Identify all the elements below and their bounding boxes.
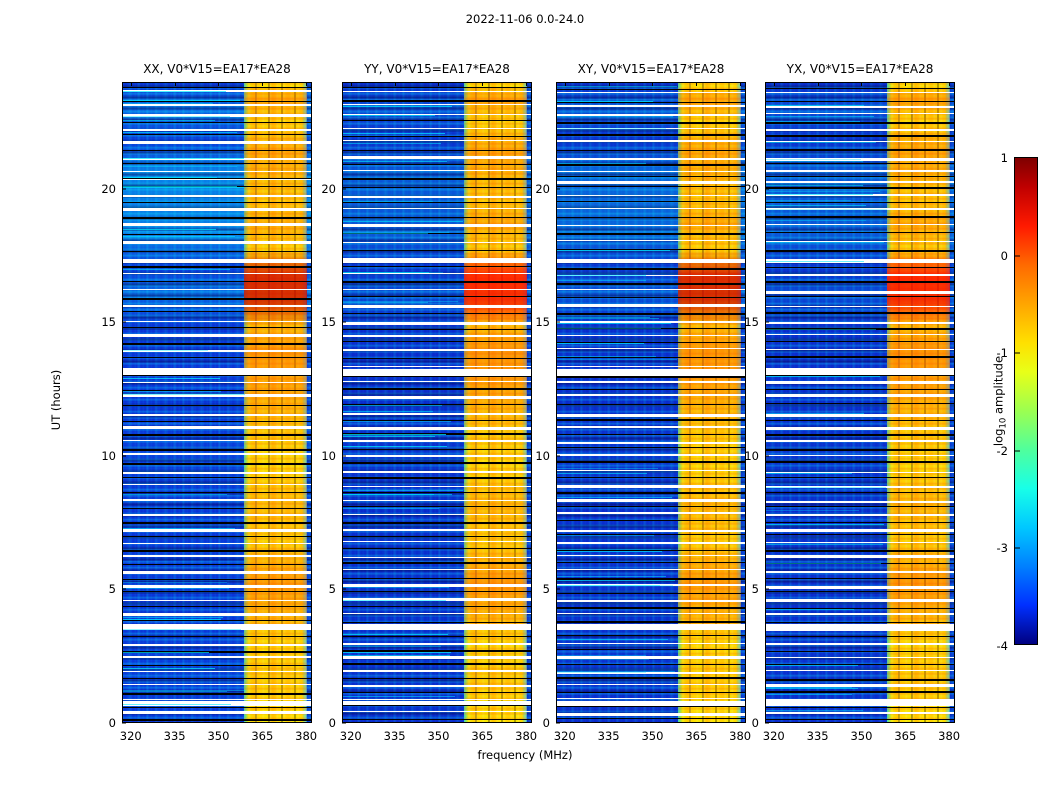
flag-stripe-black — [557, 607, 745, 609]
y-tick-mark — [342, 322, 346, 323]
bright-transient-row — [343, 652, 451, 653]
bright-transient-row — [343, 446, 447, 447]
flag-stripe-black — [343, 462, 531, 464]
flag-stripe-black — [766, 202, 954, 203]
flag-stripe-white — [766, 571, 954, 573]
flag-stripe-black — [123, 522, 311, 524]
flag-stripe-white — [343, 529, 531, 531]
flag-stripe-white — [766, 455, 954, 456]
bright-transient-row — [766, 194, 873, 195]
y-tick-label: 0 — [329, 716, 342, 730]
y-tick-label: 20 — [101, 182, 122, 196]
x-tick-label: 320 — [554, 729, 576, 743]
bright-transient-row — [557, 280, 646, 281]
flag-stripe-black — [123, 636, 311, 637]
flag-stripe-white — [343, 711, 531, 712]
flag-stripe-white — [557, 555, 745, 556]
flag-stripe-black — [123, 311, 311, 312]
bright-transient-row — [123, 116, 230, 117]
flag-stripe-black — [343, 506, 531, 507]
flag-stripe-black — [557, 376, 745, 378]
flag-stripe-white — [343, 349, 531, 351]
flag-stripe-black — [123, 343, 311, 345]
flag-stripe-white — [766, 657, 954, 658]
x-tick-mark — [218, 82, 219, 86]
flag-stripe-white — [557, 366, 745, 367]
x-tick-label: 350 — [850, 729, 872, 743]
flag-stripe-white — [557, 454, 745, 456]
flag-stripe-white — [343, 208, 531, 209]
flag-stripe-black — [343, 250, 531, 251]
flag-stripe-black — [343, 202, 531, 203]
flag-stripe-white — [557, 335, 745, 336]
bright-transient-row — [123, 269, 230, 270]
flag-stripe-white — [766, 129, 954, 131]
flag-stripe-black — [766, 389, 954, 390]
bright-transient-row — [766, 116, 874, 117]
panel-yx[interactable]: YX, V0*V15=EA17*EA28 05101520 3203353503… — [765, 82, 955, 723]
heatmap-yx[interactable] — [765, 82, 955, 723]
flag-stripe-white — [557, 195, 745, 196]
bright-transient-row — [343, 233, 428, 234]
flag-stripe-white — [557, 442, 745, 444]
bright-transient-row — [123, 652, 209, 653]
flag-stripe-white — [343, 396, 531, 399]
flag-stripe-black — [123, 719, 311, 721]
bright-transient-row — [123, 187, 244, 188]
flag-stripe-black — [123, 492, 311, 493]
y-axis-label: UT (hours) — [49, 370, 63, 430]
flag-stripe-white — [123, 499, 311, 501]
flag-stripe-wide-white — [766, 701, 954, 706]
x-tick-label: 365 — [471, 729, 493, 743]
flag-stripe-black — [343, 719, 531, 720]
bright-transient-row — [557, 250, 670, 251]
bright-transient-row — [557, 317, 650, 318]
colorbar-tick-mark — [1015, 255, 1020, 256]
bright-transient-row — [557, 323, 671, 324]
flag-stripe-black — [557, 593, 745, 594]
x-tick-label: 320 — [763, 729, 785, 743]
bright-transient-row — [123, 120, 215, 121]
y-tick-label: 10 — [321, 449, 342, 463]
bright-transient-row — [343, 133, 445, 134]
flag-stripe-black — [557, 217, 745, 218]
flag-stripe-white — [343, 128, 531, 129]
bright-transient-row — [343, 587, 449, 588]
heatmap-yy[interactable] — [342, 82, 532, 723]
flag-stripe-black — [766, 719, 954, 720]
flag-stripe-white — [123, 711, 311, 714]
x-tick-mark — [131, 82, 132, 86]
flag-stripe-black — [557, 562, 745, 563]
flag-stripe-black — [557, 134, 745, 136]
bright-transient-row — [766, 142, 876, 143]
bright-transient-row — [343, 600, 446, 601]
flag-stripe-black — [123, 449, 311, 451]
bright-transient-row — [343, 106, 452, 107]
flag-stripe-black — [343, 548, 531, 549]
flag-stripe-black — [343, 136, 531, 137]
colorbar-tick-label: -3 — [997, 541, 1015, 555]
flag-stripe-white — [766, 613, 954, 615]
flagged-time-stripes — [766, 83, 954, 722]
flag-stripe-white — [557, 171, 745, 172]
flag-stripe-white — [123, 472, 311, 474]
bright-transient-row — [766, 200, 851, 201]
flag-stripe-white — [123, 382, 311, 383]
flag-stripe-white — [343, 427, 531, 430]
bright-transient-row — [343, 494, 434, 495]
bright-transient-row — [123, 236, 235, 237]
flag-stripe-white — [766, 414, 954, 417]
bright-transient-row — [343, 421, 451, 422]
flag-stripe-black — [123, 234, 311, 235]
y-tick-label: 5 — [109, 582, 122, 596]
flag-stripe-black — [343, 313, 531, 314]
bright-transient-row — [123, 186, 237, 187]
flag-stripe-white — [123, 289, 311, 290]
flag-stripe-white — [766, 514, 954, 516]
x-tick-mark — [395, 82, 396, 86]
flag-stripe-black — [766, 691, 954, 693]
heatmap-xy[interactable] — [556, 82, 746, 723]
flag-stripe-white — [123, 208, 311, 211]
flag-stripe-white — [123, 171, 311, 172]
bright-transient-row — [766, 209, 887, 210]
flag-stripe-black — [343, 358, 531, 359]
flag-stripe-white — [557, 92, 745, 93]
flag-stripe-black — [343, 591, 531, 592]
y-tick-mark — [122, 455, 126, 456]
x-tick-mark — [306, 82, 307, 86]
flag-stripe-black — [343, 606, 531, 607]
bright-transient-row — [123, 588, 229, 589]
bright-transient-row — [123, 132, 237, 133]
x-tick-mark — [351, 82, 352, 86]
flagged-time-stripes — [123, 83, 311, 722]
flag-stripe-black — [343, 150, 531, 151]
colorbar[interactable]: 10-1-2-3-4 — [1014, 157, 1038, 645]
flag-stripe-black — [766, 477, 954, 478]
x-tick-mark — [526, 82, 527, 86]
bright-transient-row — [766, 710, 863, 711]
flag-stripe-white — [766, 529, 954, 532]
bright-transient-row — [766, 242, 884, 243]
flag-stripe-white — [557, 643, 745, 644]
flag-stripe-white — [343, 455, 531, 457]
flag-stripe-black — [343, 522, 531, 524]
flag-stripe-wide-white — [557, 369, 745, 376]
flag-stripe-white — [123, 671, 311, 672]
colorbar-tick-mark — [1015, 353, 1020, 354]
flag-stripe-white — [343, 670, 531, 672]
flag-stripe-black — [123, 298, 311, 300]
flag-stripe-black — [123, 665, 311, 666]
flag-stripe-white — [557, 208, 745, 209]
bright-transient-row — [766, 261, 864, 262]
flag-stripe-white — [557, 225, 745, 226]
bright-transient-row — [343, 302, 428, 303]
bright-transient-row — [123, 617, 223, 618]
heatmap-xx[interactable] — [122, 82, 312, 723]
figure-title: 2022-11-06 0.0-24.0 — [0, 12, 1050, 26]
flag-stripe-white — [123, 179, 311, 180]
flag-stripe-black — [123, 421, 311, 422]
flag-stripe-white — [343, 699, 531, 700]
bright-transient-row — [557, 535, 654, 536]
flag-stripe-black — [343, 636, 531, 637]
flag-stripe-white — [766, 349, 954, 350]
flag-stripe-black — [766, 636, 954, 637]
x-tick-label: 350 — [427, 729, 449, 743]
bright-transient-row — [766, 413, 864, 414]
flag-stripe-black — [557, 635, 745, 636]
flag-stripe-white — [123, 555, 311, 557]
colorbar-tick-mark — [1015, 548, 1020, 549]
flag-stripe-black — [766, 420, 954, 421]
x-tick-label: 350 — [641, 729, 663, 743]
y-tick-label: 5 — [329, 582, 342, 596]
bright-transient-row — [557, 576, 666, 577]
x-tick-mark — [262, 82, 263, 86]
bright-transient-row — [343, 434, 446, 435]
x-tick-mark — [818, 82, 819, 86]
bright-transient-row — [557, 116, 673, 117]
flag-stripe-black — [766, 651, 954, 652]
bright-transient-row — [766, 205, 866, 206]
flag-stripe-black — [557, 357, 745, 358]
bright-transient-row — [766, 688, 858, 689]
bright-transient-row — [557, 473, 647, 474]
panel-title-yy: YY, V0*V15=EA17*EA28 — [342, 62, 532, 76]
y-tick-label: 15 — [321, 315, 342, 329]
flag-stripe-black — [343, 692, 531, 693]
flag-stripe-black — [766, 578, 954, 579]
y-tick-label: 15 — [535, 315, 556, 329]
colorbar-tick-mark — [1015, 450, 1020, 451]
flag-stripe-black — [343, 477, 531, 479]
flag-stripe-white — [343, 500, 531, 501]
flag-stripe-white — [343, 514, 531, 515]
flag-stripe-black — [557, 706, 745, 707]
flag-stripe-white — [123, 305, 311, 307]
flag-stripe-white — [557, 414, 745, 417]
flag-stripe-white — [557, 512, 745, 514]
panel-title-yx: YX, V0*V15=EA17*EA28 — [765, 62, 955, 76]
y-tick-mark — [122, 723, 126, 724]
y-tick-mark — [765, 188, 769, 189]
flag-stripe-white — [123, 529, 311, 532]
bright-transient-row — [766, 487, 886, 488]
flag-stripe-white — [766, 542, 954, 543]
bright-transient-row — [557, 275, 646, 276]
flag-stripe-white — [343, 140, 531, 141]
flag-stripe-black — [766, 122, 954, 124]
x-tick-label: 365 — [894, 729, 916, 743]
flag-stripe-black — [343, 492, 531, 493]
flag-stripe-white — [766, 291, 954, 294]
flag-stripe-wide-white — [343, 624, 531, 630]
bright-transient-row — [766, 105, 864, 106]
bright-transient-row — [557, 497, 672, 498]
panel-xy[interactable]: XY, V0*V15=EA17*EA28 05101520 3203353503… — [556, 82, 746, 723]
flag-stripe-white — [343, 196, 531, 198]
flag-stripe-white — [343, 413, 531, 415]
y-tick-label: 10 — [744, 449, 765, 463]
flag-stripe-black — [766, 622, 954, 623]
flag-stripe-white — [343, 541, 531, 542]
flag-stripe-black — [557, 176, 745, 177]
flag-stripe-black — [766, 135, 954, 137]
flag-stripe-white — [557, 140, 745, 142]
flag-stripe-black — [123, 178, 311, 179]
y-tick-mark — [765, 723, 769, 724]
flag-stripe-black — [123, 202, 311, 203]
flag-stripe-white — [766, 306, 954, 307]
flag-stripe-wide-white — [123, 259, 311, 263]
flag-stripe-black — [557, 621, 745, 623]
bright-transient-row — [557, 128, 666, 129]
flag-stripe-white — [123, 241, 311, 244]
flag-stripe-black — [557, 477, 745, 478]
flag-stripe-black — [766, 163, 954, 164]
bright-transient-row — [343, 696, 455, 697]
flag-stripe-black — [557, 186, 745, 187]
flag-stripe-black — [123, 87, 311, 88]
panel-xx[interactable]: XX, V0*V15=EA17*EA28 05101520 3203353503… — [122, 82, 312, 723]
bright-transient-row — [766, 159, 861, 160]
bright-transient-row — [123, 378, 220, 379]
flag-stripe-black — [123, 375, 311, 376]
flag-stripe-black — [123, 405, 311, 406]
bright-transient-row — [343, 634, 448, 635]
bright-transient-row — [557, 551, 662, 552]
flag-stripe-black — [766, 341, 954, 342]
y-tick-label: 15 — [101, 315, 122, 329]
x-tick-label: 380 — [938, 729, 960, 743]
flag-stripe-white — [343, 557, 531, 558]
flag-stripe-black — [557, 164, 745, 166]
flag-stripe-black — [557, 692, 745, 693]
bright-transient-row — [557, 356, 656, 357]
flag-stripe-black — [123, 693, 311, 695]
flag-stripe-white — [766, 427, 954, 430]
x-tick-label: 365 — [251, 729, 273, 743]
flag-stripe-black — [557, 89, 745, 90]
y-tick-label: 0 — [752, 716, 765, 730]
flag-stripe-black — [343, 296, 531, 297]
bright-transient-row — [557, 343, 644, 344]
flag-stripe-black — [343, 341, 531, 342]
flag-stripe-black — [343, 388, 531, 390]
bright-transient-row — [557, 585, 660, 586]
flag-stripe-black — [766, 707, 954, 708]
flag-stripe-black — [343, 376, 531, 377]
flag-stripe-white — [557, 181, 745, 184]
bright-transient-row — [557, 468, 658, 469]
flag-stripe-white — [343, 91, 531, 92]
flag-stripe-black — [766, 281, 954, 283]
y-tick-label: 20 — [535, 182, 556, 196]
flag-stripe-white — [123, 656, 311, 658]
panel-yy[interactable]: YY, V0*V15=EA17*EA28 05101520 3203353503… — [342, 82, 532, 723]
flag-stripe-white — [123, 440, 311, 441]
y-tick-mark — [765, 455, 769, 456]
x-tick-mark — [482, 82, 483, 86]
bright-transient-row — [766, 687, 852, 688]
bright-transient-row — [123, 394, 245, 395]
flag-stripe-black — [766, 506, 954, 507]
flag-stripe-white — [123, 699, 311, 700]
bright-transient-row — [557, 655, 646, 656]
flag-stripe-black — [766, 216, 954, 218]
y-tick-mark — [342, 723, 346, 724]
flag-stripe-white — [343, 613, 531, 614]
flag-stripe-black — [123, 579, 311, 580]
bright-transient-row — [766, 665, 858, 666]
flag-stripe-black — [557, 434, 745, 435]
y-tick-mark — [765, 322, 769, 323]
flag-stripe-white — [123, 129, 311, 131]
bright-transient-row — [766, 609, 854, 610]
bright-transient-row — [557, 580, 675, 581]
y-tick-label: 10 — [101, 449, 122, 463]
flag-stripe-white — [123, 334, 311, 337]
flag-stripe-black — [766, 534, 954, 535]
flag-stripe-white — [343, 104, 531, 105]
flag-stripe-black — [557, 201, 745, 202]
x-tick-label: 320 — [340, 729, 362, 743]
bright-transient-row — [123, 166, 237, 167]
flag-stripe-black — [766, 434, 954, 436]
flag-stripe-black — [123, 591, 311, 592]
flag-stripe-black — [766, 149, 954, 151]
bright-transient-row — [557, 359, 677, 360]
y-tick-mark — [122, 322, 126, 323]
flag-stripe-white — [766, 224, 954, 225]
bright-transient-row — [123, 158, 244, 159]
flag-stripe-black — [343, 178, 531, 180]
flag-stripe-white — [557, 684, 745, 685]
flag-stripe-black — [343, 164, 531, 165]
flag-stripe-white — [557, 600, 745, 602]
flag-stripe-white — [343, 289, 531, 290]
flag-stripe-black — [766, 492, 954, 493]
x-tick-mark — [949, 82, 950, 86]
colorbar-label: log10 amplitude — [991, 356, 1008, 446]
bright-transient-row — [343, 272, 443, 273]
flag-stripe-black — [557, 102, 745, 103]
bright-transient-row — [557, 328, 661, 329]
flag-stripe-black — [123, 163, 311, 164]
flag-stripe-white — [343, 643, 531, 645]
flag-stripe-black — [557, 649, 745, 650]
flag-stripe-wide-white — [766, 624, 954, 630]
bright-transient-row — [343, 201, 433, 202]
bright-transient-row — [123, 528, 235, 529]
flag-stripe-white — [343, 685, 531, 687]
x-tick-label: 335 — [598, 729, 620, 743]
flag-stripe-black — [343, 329, 531, 330]
flag-stripe-black — [343, 187, 531, 188]
y-tick-label: 20 — [321, 182, 342, 196]
bright-transient-row — [766, 510, 859, 511]
flag-stripe-black — [766, 187, 954, 189]
x-tick-label: 380 — [295, 729, 317, 743]
colorbar-tick-label: 1 — [1001, 151, 1015, 165]
flag-stripe-black — [557, 297, 745, 298]
